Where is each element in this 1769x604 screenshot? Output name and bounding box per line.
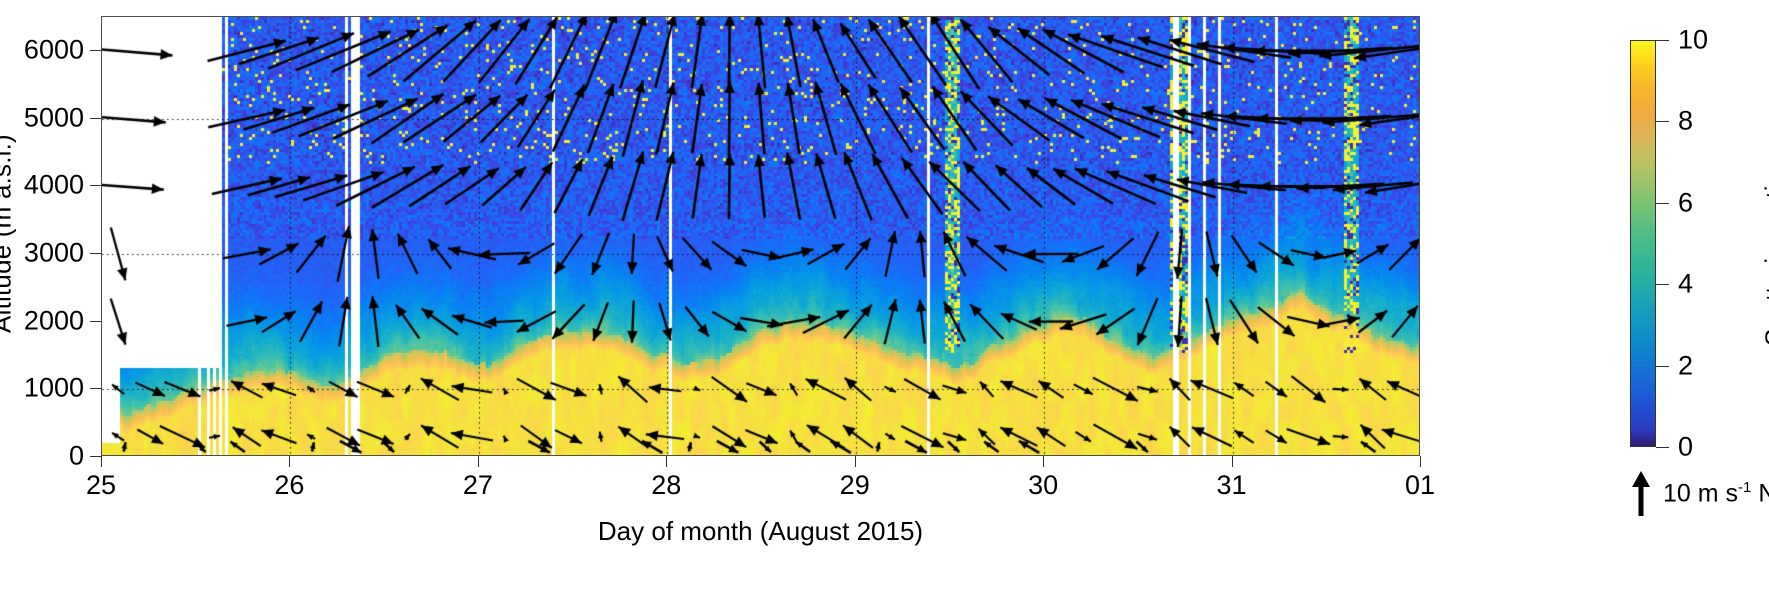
x-tick-label: 25 — [86, 470, 116, 501]
colorbar — [1630, 40, 1656, 447]
x-axis-title: Day of month (August 2015) — [101, 516, 1420, 547]
x-tick-label: 01 — [1405, 470, 1435, 501]
x-tick-mark — [1420, 456, 1421, 467]
y-tick-mark — [90, 388, 101, 389]
y-tick-mark — [90, 118, 101, 119]
scattering-ratio-figure: Altitude (m a.s.l.) 01000200030004000500… — [0, 0, 1769, 604]
colorbar-tick-mark — [1656, 121, 1669, 122]
y-tick-label: 5000 — [0, 102, 84, 133]
x-tick-mark — [1232, 456, 1233, 467]
y-tick-label: 1000 — [0, 373, 84, 404]
x-tick-mark — [1043, 456, 1044, 467]
plot-area — [101, 16, 1420, 456]
y-tick-mark — [90, 253, 101, 254]
wind-legend-label: 10 m s-1 N — [1663, 479, 1769, 508]
colorbar-tick-label: 10 — [1678, 25, 1708, 56]
y-tick-label: 0 — [0, 441, 84, 472]
colorbar-tick-mark — [1656, 447, 1669, 448]
wind-vector-canvas — [102, 17, 1419, 455]
colorbar-tick-mark — [1656, 40, 1669, 41]
x-tick-label: 31 — [1217, 470, 1247, 501]
wind-reference-legend: 10 m s-1 N — [1628, 470, 1769, 518]
y-tick-mark — [90, 50, 101, 51]
x-tick-mark — [101, 456, 102, 467]
colorbar-title: Scattering ratio — [1760, 29, 1769, 489]
x-tick-mark — [666, 456, 667, 467]
colorbar-tick-mark — [1656, 203, 1669, 204]
x-tick-label: 26 — [274, 470, 304, 501]
colorbar-tick-label: 8 — [1678, 106, 1693, 137]
y-tick-mark — [90, 321, 101, 322]
y-tick-mark — [90, 456, 101, 457]
colorbar-tick-label: 0 — [1678, 432, 1693, 463]
y-tick-label: 3000 — [0, 237, 84, 268]
y-tick-mark — [90, 185, 101, 186]
x-tick-mark — [855, 456, 856, 467]
x-tick-label: 28 — [651, 470, 681, 501]
colorbar-tick-label: 6 — [1678, 187, 1693, 218]
colorbar-tick-label: 4 — [1678, 269, 1693, 300]
y-tick-label: 6000 — [0, 34, 84, 65]
y-tick-label: 4000 — [0, 170, 84, 201]
x-tick-label: 29 — [840, 470, 870, 501]
x-tick-label: 27 — [463, 470, 493, 501]
colorbar-tick-mark — [1656, 284, 1669, 285]
y-tick-label: 2000 — [0, 305, 84, 336]
x-tick-mark — [478, 456, 479, 467]
up-arrow-icon — [1628, 470, 1654, 518]
x-tick-mark — [289, 456, 290, 467]
x-tick-label: 30 — [1028, 470, 1058, 501]
colorbar-tick-label: 2 — [1678, 350, 1693, 381]
colorbar-tick-mark — [1656, 366, 1669, 367]
